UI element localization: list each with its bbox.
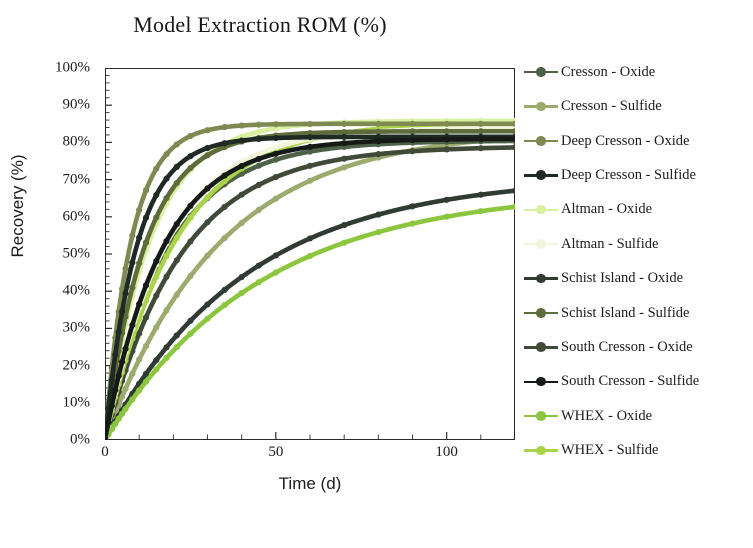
- legend-item[interactable]: Cresson - Oxide: [524, 62, 655, 82]
- legend-item[interactable]: Schist Island - Oxide: [524, 268, 683, 288]
- legend-marker-icon: [536, 342, 546, 352]
- legend-marker-icon: [536, 102, 546, 112]
- series-marker: [375, 229, 381, 235]
- series-marker: [221, 124, 227, 130]
- series-marker: [204, 145, 210, 151]
- series-marker: [341, 134, 347, 140]
- series-marker: [307, 253, 313, 259]
- legend-symbol-icon: [524, 409, 558, 423]
- legend-symbol-icon: [524, 168, 558, 182]
- legend-item-label: South Cresson - Sulfide: [561, 374, 699, 389]
- y-tick-label: 70%: [63, 171, 91, 188]
- series-marker: [153, 166, 159, 172]
- series-marker: [239, 220, 245, 226]
- series-marker: [136, 207, 142, 213]
- series-marker: [119, 359, 125, 365]
- legend-item[interactable]: Altman - Oxide: [524, 200, 652, 220]
- series-marker: [307, 163, 313, 169]
- series-marker: [239, 163, 245, 169]
- legend-item-label: Cresson - Oxide: [561, 65, 655, 80]
- series-marker: [409, 203, 415, 209]
- series-marker: [163, 355, 169, 361]
- y-tick-label: 30%: [63, 320, 91, 337]
- series-marker: [204, 316, 210, 322]
- series-marker: [256, 262, 262, 268]
- y-tick-label: 40%: [63, 283, 91, 300]
- series-marker: [478, 136, 484, 142]
- series-marker: [187, 133, 193, 139]
- series-marker: [375, 128, 381, 134]
- series-marker: [221, 302, 227, 308]
- series-marker: [307, 235, 313, 241]
- legend-symbol-icon: [524, 443, 558, 457]
- legend-marker-icon: [536, 136, 546, 146]
- series-marker: [174, 332, 180, 338]
- series-marker: [122, 346, 128, 352]
- series-marker: [143, 343, 149, 349]
- series-marker: [221, 287, 227, 293]
- series-marker: [239, 274, 245, 280]
- series-marker: [444, 146, 450, 152]
- series-marker: [341, 222, 347, 228]
- series-marker: [273, 135, 279, 141]
- legend-marker-icon: [536, 411, 546, 421]
- legend-marker-icon: [536, 205, 546, 215]
- series-marker: [163, 344, 169, 350]
- series-altman-sulfide: [105, 125, 515, 440]
- series-marker: [187, 318, 193, 324]
- legend-item-label: Cresson - Sulfide: [561, 99, 662, 114]
- series-marker: [163, 253, 169, 259]
- legend-item[interactable]: WHEX - Sulfide: [524, 440, 658, 460]
- series-marker: [163, 195, 169, 201]
- series-marker: [221, 204, 227, 210]
- series-marker: [273, 196, 279, 202]
- legend-item[interactable]: WHEX - Oxide: [524, 406, 652, 426]
- y-tick-label: 60%: [63, 208, 91, 225]
- series-marker: [256, 182, 262, 188]
- series-marker: [409, 128, 415, 134]
- series-marker: [256, 207, 262, 213]
- series-marker: [273, 252, 279, 258]
- series-marker: [129, 259, 135, 265]
- series-marker: [153, 366, 159, 372]
- series-marker: [204, 219, 210, 225]
- series-marker: [163, 274, 169, 280]
- series-marker: [444, 197, 450, 203]
- series-marker: [187, 203, 193, 209]
- series-marker: [174, 221, 180, 227]
- legend-marker-icon: [536, 170, 546, 180]
- series-marker: [204, 185, 210, 191]
- series-marker: [122, 290, 128, 296]
- series-marker: [129, 232, 135, 238]
- series-marker: [136, 387, 142, 393]
- series-marker: [307, 144, 313, 150]
- series-marker: [119, 309, 125, 315]
- series-marker: [221, 235, 227, 241]
- chart-title: Model Extraction ROM (%): [0, 12, 520, 38]
- series-marker: [221, 172, 227, 178]
- series-marker: [109, 403, 115, 409]
- series-marker: [239, 137, 245, 143]
- series-marker: [122, 406, 128, 412]
- series-marker: [478, 192, 484, 198]
- series-marker: [204, 127, 210, 133]
- legend-symbol-icon: [524, 99, 558, 113]
- series-marker: [341, 140, 347, 146]
- legend-marker-icon: [536, 239, 546, 249]
- series-marker: [444, 214, 450, 220]
- y-axis-title: Recovery (%): [8, 126, 28, 286]
- series-marker: [341, 121, 347, 127]
- series-marker: [153, 192, 159, 198]
- series-marker: [256, 156, 262, 162]
- series-marker: [112, 421, 118, 427]
- series-marker: [174, 257, 180, 263]
- series-marker: [163, 176, 169, 182]
- series-marker: [256, 163, 262, 169]
- series-marker: [187, 215, 193, 221]
- series-marker: [273, 144, 279, 150]
- series-canvas: [105, 68, 515, 440]
- legend-symbol-icon: [524, 237, 558, 251]
- series-line: [105, 141, 515, 440]
- series-marker: [112, 387, 118, 393]
- series-marker: [204, 152, 210, 158]
- series-marker: [174, 292, 180, 298]
- series-marker: [187, 273, 193, 279]
- series-marker: [174, 180, 180, 186]
- series-marker: [187, 165, 193, 171]
- plot-area: [105, 68, 515, 440]
- series-line: [105, 191, 515, 440]
- series-marker: [143, 215, 149, 221]
- chart-legend: Cresson - OxideCresson - SulfideDeep Cre…: [524, 62, 752, 482]
- series-marker: [409, 137, 415, 143]
- series-marker: [256, 279, 262, 285]
- series-marker: [136, 235, 142, 241]
- series-marker: [174, 141, 180, 147]
- y-tick-label: 50%: [63, 246, 91, 263]
- series-marker: [444, 128, 450, 134]
- series-marker: [478, 121, 484, 127]
- series-marker: [109, 377, 115, 383]
- series-marker: [122, 386, 128, 392]
- y-tick-label: 100%: [55, 60, 90, 77]
- series-marker: [187, 331, 193, 337]
- series-marker: [273, 269, 279, 275]
- legend-item-label: Altman - Oxide: [561, 202, 652, 217]
- y-tick-label: 10%: [63, 394, 91, 411]
- legend-symbol-icon: [524, 134, 558, 148]
- series-marker: [129, 371, 135, 377]
- series-marker: [341, 164, 347, 170]
- series-marker: [136, 260, 142, 266]
- series-marker: [174, 235, 180, 241]
- series-marker: [444, 121, 450, 127]
- legend-item[interactable]: Deep Cresson - Oxide: [524, 131, 689, 151]
- x-axis-tick-labels: 050100: [105, 444, 515, 468]
- chart-container: Model Extraction ROM (%) Recovery (%) 0%…: [0, 0, 753, 548]
- series-marker: [163, 238, 169, 244]
- legend-item-label: Altman - Sulfide: [561, 237, 658, 252]
- series-marker: [256, 129, 262, 135]
- series-marker: [478, 128, 484, 134]
- series-marker: [256, 122, 262, 128]
- series-marker: [129, 396, 135, 402]
- series-marker: [112, 352, 118, 358]
- series-marker: [116, 373, 122, 379]
- x-tick-label: 50: [268, 444, 283, 461]
- series-marker: [174, 344, 180, 350]
- series-marker: [375, 121, 381, 127]
- legend-marker-icon: [536, 67, 546, 77]
- legend-symbol-icon: [524, 375, 558, 389]
- legend-item-label: South Cresson - Oxide: [561, 340, 693, 355]
- series-marker: [409, 220, 415, 226]
- series-line: [105, 139, 515, 440]
- series-marker: [116, 329, 122, 335]
- legend-symbol-icon: [524, 340, 558, 354]
- series-marker: [153, 214, 159, 220]
- series-marker: [136, 301, 142, 307]
- series-marker: [221, 140, 227, 146]
- series-marker: [341, 156, 347, 162]
- series-marker: [122, 266, 128, 272]
- series-marker: [375, 212, 381, 218]
- series-marker: [478, 145, 484, 151]
- series-marker: [143, 379, 149, 385]
- series-marker: [409, 121, 415, 127]
- series-marker: [187, 238, 193, 244]
- series-marker: [307, 178, 313, 184]
- series-marker: [153, 357, 159, 363]
- series-line: [105, 147, 515, 440]
- y-tick-label: 80%: [63, 134, 91, 151]
- legend-item-label: Deep Cresson - Sulfide: [561, 168, 696, 183]
- legend-item-label: Schist Island - Oxide: [561, 271, 683, 286]
- series-marker: [307, 134, 313, 140]
- series-marker: [239, 290, 245, 296]
- series-marker: [273, 157, 279, 163]
- series-south-cresson-oxide: [105, 144, 515, 440]
- legend-item[interactable]: South Cresson - Sulfide: [524, 372, 699, 392]
- legend-symbol-icon: [524, 271, 558, 285]
- legend-item[interactable]: South Cresson - Oxide: [524, 337, 693, 357]
- series-marker: [409, 148, 415, 154]
- series-marker: [307, 121, 313, 127]
- series-marker: [256, 136, 262, 142]
- series-marker: [273, 121, 279, 127]
- series-marker: [204, 253, 210, 259]
- series-line: [105, 124, 515, 440]
- series-line: [105, 128, 515, 440]
- legend-item-label: WHEX - Sulfide: [561, 443, 658, 458]
- legend-marker-icon: [536, 308, 546, 318]
- series-marker: [143, 187, 149, 193]
- series-marker: [136, 356, 142, 362]
- legend-symbol-icon: [524, 306, 558, 320]
- legend-symbol-icon: [524, 65, 558, 79]
- series-marker: [204, 301, 210, 307]
- series-marker: [153, 258, 159, 264]
- series-marker: [153, 293, 159, 299]
- legend-marker-icon: [536, 377, 546, 387]
- series-marker: [153, 324, 159, 330]
- y-axis-tick-labels: 0%10%20%30%40%50%60%70%80%90%100%: [40, 68, 98, 440]
- series-marker: [273, 174, 279, 180]
- x-tick-label: 0: [101, 444, 109, 461]
- series-marker: [163, 307, 169, 313]
- legend-symbol-icon: [524, 203, 558, 217]
- legend-item[interactable]: Deep Cresson - Sulfide: [524, 165, 696, 185]
- legend-item[interactable]: Altman - Sulfide: [524, 234, 658, 254]
- series-marker: [273, 151, 279, 157]
- x-tick-label: 100: [435, 444, 458, 461]
- series-marker: [239, 192, 245, 198]
- x-axis-title: Time (d): [105, 474, 515, 494]
- legend-item-label: WHEX - Oxide: [561, 409, 652, 424]
- y-tick-label: 90%: [63, 97, 91, 114]
- y-tick-label: 0%: [70, 432, 90, 449]
- series-marker: [375, 138, 381, 144]
- series-marker: [129, 285, 135, 291]
- series-marker: [143, 282, 149, 288]
- series-marker: [143, 314, 149, 320]
- series-marker: [444, 136, 450, 142]
- series-marker: [239, 122, 245, 128]
- legend-item-label: Deep Cresson - Oxide: [561, 134, 689, 149]
- series-marker: [174, 164, 180, 170]
- legend-item[interactable]: Schist Island - Sulfide: [524, 303, 689, 323]
- series-marker: [204, 194, 210, 200]
- series-marker: [105, 419, 111, 425]
- series-marker: [143, 239, 149, 245]
- series-marker: [478, 208, 484, 214]
- series-marker: [187, 153, 193, 159]
- legend-marker-icon: [536, 274, 546, 284]
- legend-item[interactable]: Cresson - Sulfide: [524, 96, 662, 116]
- legend-item-label: Schist Island - Sulfide: [561, 306, 689, 321]
- series-marker: [341, 240, 347, 246]
- series-marker: [129, 322, 135, 328]
- y-tick-label: 20%: [63, 357, 91, 374]
- legend-marker-icon: [536, 446, 546, 456]
- series-marker: [163, 151, 169, 157]
- series-marker: [375, 151, 381, 157]
